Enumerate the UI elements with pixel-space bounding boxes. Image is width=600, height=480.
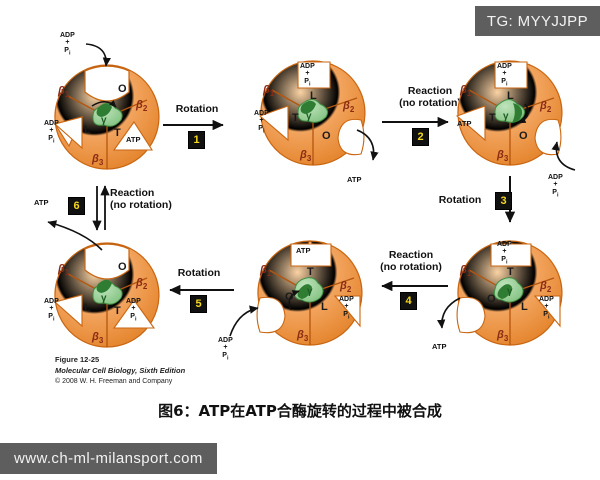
panel-1-beta1-label: β1: [58, 86, 69, 99]
step-1-label: Rotation: [166, 104, 228, 116]
panel-2-beta3-label: β3: [300, 150, 311, 163]
panel-5-inflow-arrow: [228, 298, 262, 338]
step-2-arrow: [382, 117, 458, 127]
panel-2-outflow-arrow: [355, 128, 389, 170]
panel-6-beta3-label: β3: [92, 332, 103, 345]
panel-1-site-o: O: [118, 84, 127, 95]
panel-2-site-o: O: [322, 131, 331, 142]
panel-4-outflow-arrow: [432, 296, 464, 338]
panel-6: β1 β2 β3 O L T γ ADP+Pi ADP+Pi: [52, 240, 162, 350]
step-3-label: Rotation: [429, 195, 491, 207]
panel-2-beta1-label: β1: [263, 85, 274, 98]
step-5-arrow: [160, 285, 234, 295]
panel-3-beta1-label: β1: [460, 85, 471, 98]
panel-6-site-t: T: [114, 306, 121, 317]
step-6-label: Reaction (no rotation): [110, 188, 206, 212]
panel-6-T-bound-adp: ADP+Pi: [126, 298, 141, 323]
url-watermark-badge: www.ch-ml-milansport.com: [0, 443, 217, 474]
step-4-label: Reaction (no rotation): [365, 250, 457, 274]
figure-canvas: TG: MYYJJPP www.ch-ml-milansport.com: [0, 0, 600, 480]
panel-4-site-t: T: [507, 267, 514, 278]
step-1-arrow: [163, 120, 233, 130]
panel-4-beta3-label: β3: [497, 330, 508, 343]
step-5-badge: 5: [190, 295, 207, 313]
atp-synthase-wheel: [52, 62, 162, 172]
panel-2-site-l: L: [310, 91, 317, 102]
panel-2-T-bound-adp: ADP+Pi: [254, 110, 269, 135]
panel-1-inflow-label: ADP+Pi: [60, 32, 75, 57]
step-6-line2: (no rotation): [110, 199, 172, 211]
panel-1-T-bound-atp: ATP: [126, 136, 140, 144]
panel-3-L-bound-adp: ADP+Pi: [497, 63, 512, 88]
telegram-watermark-badge: TG: MYYJJPP: [475, 6, 600, 36]
figure-number: Figure 12-25: [55, 355, 265, 366]
panel-1-L-bound-adp: ADP+Pi: [44, 120, 59, 145]
panel-2-beta2-label: β2: [343, 101, 354, 114]
figure-source: Molecular Cell Biology, Sixth Edition: [55, 366, 265, 377]
step-2-line1: Reaction: [408, 85, 452, 97]
step-4-line2: (no rotation): [380, 261, 442, 273]
panel-4-L-bound-adp: ADP+Pi: [539, 296, 554, 321]
panel-3-gamma-label: γ: [503, 111, 509, 122]
panel-3-site-o: O: [519, 131, 528, 142]
step-4-arrow: [372, 281, 448, 291]
panel-1-beta3-label: β3: [92, 154, 103, 167]
panel-4: β1 β2 β3 T O L γ ADP+Pi ADP+Pi: [455, 238, 565, 348]
panel-1-site-t: T: [114, 128, 121, 139]
panel-2-L-bound-adp: ADP+Pi: [300, 63, 315, 88]
step-6-arrow: [92, 180, 110, 236]
panel-5-site-t: T: [307, 267, 314, 278]
step-5-label: Rotation: [168, 268, 230, 280]
panel-4-beta2-label: β2: [540, 281, 551, 294]
panel-2-outflow-label: ATP: [347, 176, 361, 184]
panel-3-T-bound-atp: ATP: [457, 120, 471, 128]
panel-6-site-l: L: [84, 303, 91, 314]
panel-4-beta1-label: β1: [460, 265, 471, 278]
panel-2: β1 β2 β3 L T O γ ADP+Pi ADP+Pi: [258, 58, 368, 168]
panel-6-gamma-label: γ: [101, 293, 107, 304]
panel-5-T-bound-atp: ATP: [296, 247, 310, 255]
panel-1: β1 β2 β3 O L T γ ADP+Pi ATP: [52, 62, 162, 172]
step-6-badge: 6: [68, 197, 85, 215]
panel-6-outflow-label: ATP: [34, 199, 48, 207]
figure-copyright: © 2008 W. H. Freeman and Company: [55, 377, 265, 387]
panel-2-site-t: T: [292, 113, 299, 124]
panel-5-beta2-label: β2: [340, 281, 351, 294]
panel-1-beta2-label: β2: [136, 100, 147, 113]
step-4-badge: 4: [400, 292, 417, 310]
panel-2-gamma-label: γ: [306, 111, 312, 122]
panel-6-beta1-label: β1: [58, 264, 69, 277]
step-2-line2: (no rotation): [399, 97, 461, 109]
atp-synthase-wheel: [52, 240, 162, 350]
panel-4-outflow-label: ATP: [432, 343, 446, 351]
panel-1-site-l: L: [84, 125, 91, 136]
panel-4-T-bound-adp: ADP+Pi: [497, 241, 512, 266]
panel-6-L-bound-adp: ADP+Pi: [44, 298, 59, 323]
panel-5-site-l: L: [321, 302, 328, 313]
panel-4-gamma-label: γ: [507, 286, 513, 297]
panel-3-inflow-arrow: [545, 130, 579, 172]
panel-5-beta3-label: β3: [297, 330, 308, 343]
panel-3-site-t: T: [489, 113, 496, 124]
panel-3-beta3-label: β3: [497, 150, 508, 163]
panel-5-site-o: O: [285, 292, 294, 303]
panel-1-gamma-label: γ: [101, 115, 107, 126]
panel-5: β1 β2 β3 T O L γ ATP ADP+Pi: [255, 238, 365, 348]
chinese-caption: 图6：ATP在ATP合酶旋转的过程中被合成: [0, 400, 600, 421]
step-4-line1: Reaction: [389, 249, 433, 261]
panel-5-gamma-label: γ: [307, 286, 313, 297]
panel-1-inflow-arrow: [84, 38, 122, 74]
step-6-line1: Reaction: [110, 187, 154, 199]
panel-3-beta2-label: β2: [540, 101, 551, 114]
panel-5-beta1-label: β1: [260, 265, 271, 278]
panel-5-L-bound-adp: ADP+Pi: [339, 296, 354, 321]
panel-4-site-l: L: [521, 302, 528, 313]
panel-6-beta2-label: β2: [136, 278, 147, 291]
step-2-badge: 2: [412, 128, 429, 146]
panel-6-site-o: O: [118, 262, 127, 273]
step-1-badge: 1: [188, 131, 205, 149]
panel-4-site-o: O: [487, 294, 496, 305]
step-3-badge: 3: [495, 192, 512, 210]
panel-3-site-l: L: [507, 91, 514, 102]
panel-3-inflow-label: ADP+Pi: [548, 174, 563, 199]
figure-credits: Figure 12-25 Molecular Cell Biology, Six…: [55, 355, 265, 387]
